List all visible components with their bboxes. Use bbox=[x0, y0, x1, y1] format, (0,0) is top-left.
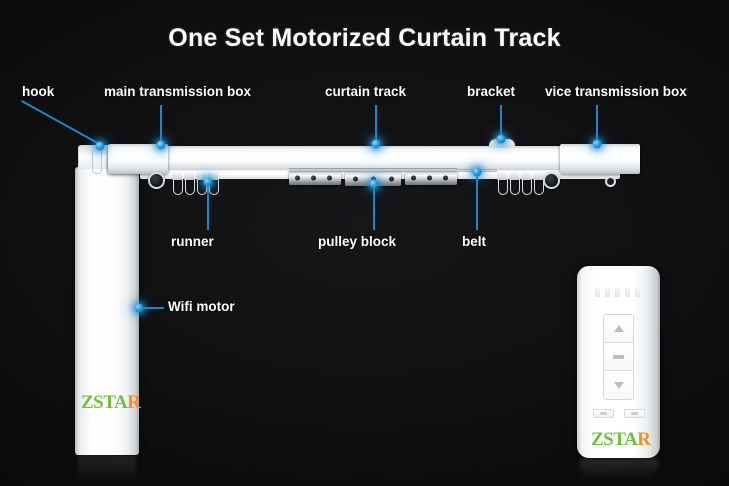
callout-label-wifi-motor: Wifi motor bbox=[168, 299, 235, 314]
motor-hook bbox=[92, 150, 102, 174]
brand-logo-orange-text: R bbox=[127, 392, 140, 413]
runner bbox=[533, 173, 543, 195]
remote-control[interactable]: ZSTAR bbox=[577, 266, 660, 458]
leader-line-pulley-block bbox=[373, 183, 375, 230]
product-diagram: One Set Motorized Curtain Track bbox=[0, 0, 729, 486]
dash-icon bbox=[631, 412, 638, 415]
callout-dot-belt bbox=[473, 168, 482, 177]
vice-box-end-wheel bbox=[543, 172, 560, 189]
brand-logo-green-text: ZSTA bbox=[81, 392, 127, 413]
leader-line-bracket bbox=[500, 105, 502, 138]
leader-line-belt bbox=[476, 173, 478, 230]
pulley-block bbox=[289, 171, 341, 185]
callout-label-bracket: bracket bbox=[467, 84, 515, 99]
brand-logo-remote: ZSTAR bbox=[591, 430, 650, 449]
reset-button[interactable] bbox=[624, 409, 645, 418]
callout-dot-bracket bbox=[497, 135, 506, 144]
callout-label-belt: belt bbox=[462, 234, 486, 249]
indicator-led bbox=[595, 288, 600, 297]
runner bbox=[509, 173, 519, 195]
indicator-led bbox=[605, 288, 610, 297]
belt bbox=[289, 168, 457, 172]
callout-dot-curtain-track bbox=[372, 140, 381, 149]
vice-transmission-box bbox=[560, 144, 640, 174]
brand-logo-motor: ZSTAR bbox=[81, 393, 140, 412]
close-button[interactable] bbox=[604, 371, 633, 399]
stop-button[interactable] bbox=[604, 343, 633, 371]
indicator-led-row bbox=[595, 288, 640, 297]
minus-bar-icon bbox=[613, 355, 624, 359]
runner bbox=[172, 173, 182, 195]
triangle-up-icon bbox=[614, 325, 624, 332]
brand-logo-green-text: ZSTA bbox=[591, 429, 637, 450]
motor-floor-reflection bbox=[78, 455, 136, 481]
main-box-end-wheel bbox=[148, 172, 165, 189]
callout-label-main-transmission-box: main transmission box bbox=[104, 84, 251, 99]
callout-dot-main-transmission-box bbox=[157, 141, 166, 150]
callout-dot-wifi-motor bbox=[135, 304, 144, 313]
indicator-led bbox=[635, 288, 640, 297]
callout-dot-runner bbox=[204, 178, 213, 187]
leader-line-vice-transmission-box bbox=[596, 105, 598, 143]
runner bbox=[497, 173, 507, 195]
leader-line-runner bbox=[207, 181, 209, 230]
callout-dot-vice-transmission-box bbox=[593, 140, 602, 149]
leader-line-main-transmission-box bbox=[160, 105, 162, 145]
remote-mini-button-row bbox=[593, 409, 645, 418]
callout-dot-pulley-block bbox=[370, 180, 379, 189]
brand-logo-orange-text: R bbox=[637, 429, 650, 450]
callout-label-runner: runner bbox=[171, 234, 214, 249]
callout-label-pulley-block: pulley block bbox=[318, 234, 396, 249]
callout-label-vice-transmission-box: vice transmission box bbox=[545, 84, 687, 99]
remote-floor-reflection bbox=[580, 458, 658, 480]
triangle-down-icon bbox=[614, 382, 624, 389]
set-button[interactable] bbox=[593, 409, 614, 418]
callout-dot-hook bbox=[96, 142, 105, 151]
pulley-block bbox=[405, 171, 457, 185]
leader-line-curtain-track bbox=[375, 105, 377, 143]
dash-icon bbox=[600, 412, 607, 415]
remote-button-stack bbox=[603, 314, 634, 400]
right-end-wheel bbox=[605, 176, 616, 187]
indicator-led bbox=[615, 288, 620, 297]
indicator-led bbox=[625, 288, 630, 297]
runner bbox=[184, 173, 194, 195]
open-button[interactable] bbox=[604, 315, 633, 343]
callout-label-hook: hook bbox=[22, 84, 54, 99]
leader-line-wifi-motor bbox=[140, 307, 164, 309]
runner-group-right bbox=[497, 173, 543, 195]
callout-label-curtain-track: curtain track bbox=[325, 84, 406, 99]
runner bbox=[521, 173, 531, 195]
